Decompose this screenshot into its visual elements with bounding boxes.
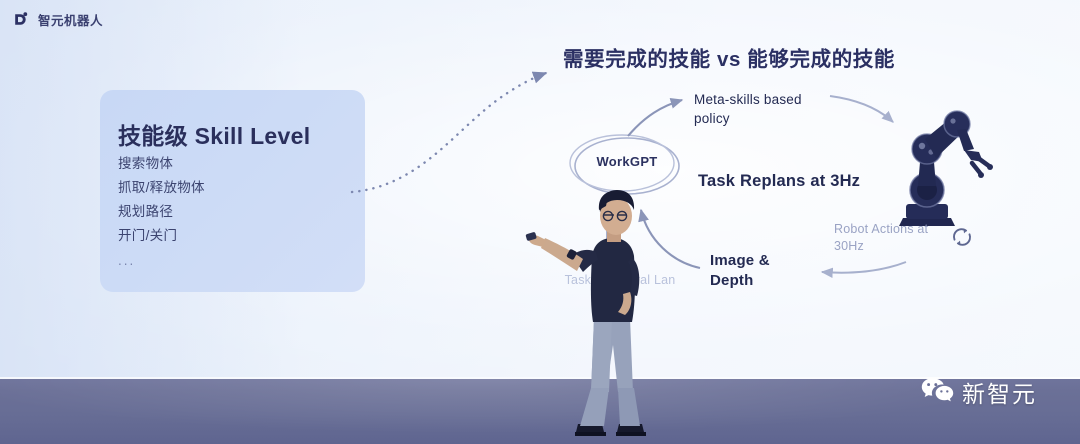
wechat-icon xyxy=(921,376,954,409)
watermark-text: 新智元 xyxy=(962,375,1037,409)
presenter-pointing xyxy=(525,190,646,436)
watermark: 新智元 xyxy=(921,375,1037,409)
presentation-screenshot: 智元机器人 技能级 Skill Level 搜索物体 抓取/释放物体 规划路径 … xyxy=(0,0,1080,444)
presenter-figure xyxy=(0,0,1080,444)
